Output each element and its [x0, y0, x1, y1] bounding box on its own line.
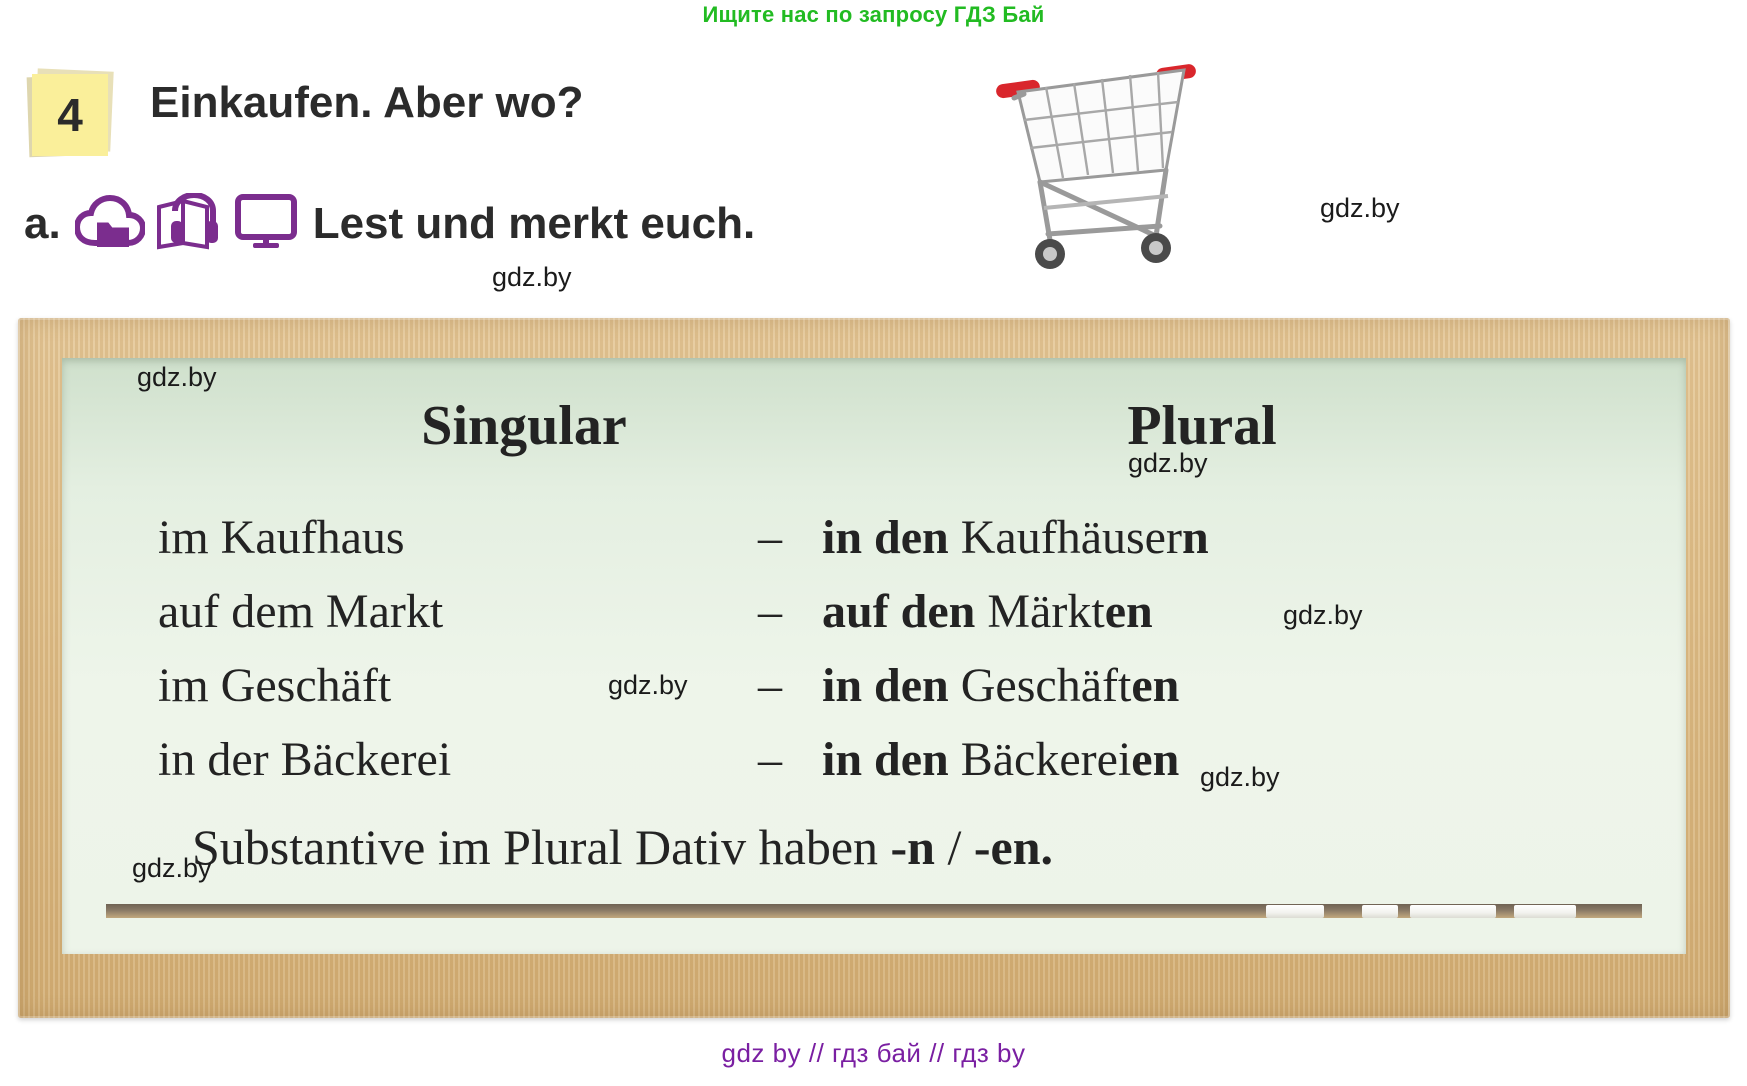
- footer-part-3: гдз by: [952, 1038, 1025, 1068]
- plural-stem: Geschäft: [949, 659, 1132, 712]
- subtask-instruction: Lest und merkt euch.: [313, 199, 756, 249]
- grammar-rule: Substantive im Plural Dativ haben -n / -…: [192, 818, 1053, 876]
- plural-ending: en: [1131, 659, 1179, 712]
- table-row: auf dem Markt – auf den Märkten: [62, 584, 1686, 658]
- plural-article: auf den: [822, 585, 975, 638]
- plural-stem: Kaufhäuser: [949, 511, 1182, 564]
- row-separator: –: [730, 732, 810, 787]
- table-row: im Geschäft – in den Geschäften: [62, 658, 1686, 732]
- rule-slash: /: [935, 819, 974, 875]
- watermark: gdz.by: [1320, 193, 1400, 224]
- word-pair-rows: im Kaufhaus – in den Kaufhäusern auf dem…: [62, 510, 1686, 806]
- plural-form: auf den Märkten: [822, 584, 1602, 639]
- plural-ending: n: [1182, 511, 1209, 564]
- plural-article: in den: [822, 659, 949, 712]
- subtask-row: a. L: [24, 186, 755, 262]
- chalk-piece: [1514, 905, 1576, 918]
- site-footer: gdz by // гдз бай // гдз by: [0, 1038, 1747, 1069]
- monitor-icon: [235, 194, 297, 255]
- plural-form: in den Geschäften: [822, 658, 1602, 713]
- rule-text: Substantive im Plural Dativ haben: [192, 819, 891, 875]
- footer-part-1: gdz by: [722, 1038, 802, 1068]
- chalk-piece: [1410, 905, 1496, 918]
- watermark: gdz.by: [492, 262, 572, 293]
- header-plural: Plural: [922, 394, 1482, 458]
- header-singular: Singular: [244, 394, 804, 458]
- table-row: in der Bäckerei – in den Bäckereien: [62, 732, 1686, 806]
- task-title: Einkaufen. Aber wo?: [150, 78, 584, 128]
- plural-article: in den: [822, 733, 949, 786]
- chalk-piece: [1266, 905, 1324, 918]
- chalk-piece: [1362, 905, 1398, 918]
- shopping-cart-image: [988, 58, 1200, 280]
- plural-form: in den Kaufhäusern: [822, 510, 1602, 565]
- singular-form: in der Bäckerei: [158, 732, 758, 787]
- singular-form: auf dem Markt: [158, 584, 758, 639]
- book-headphones-icon: [155, 193, 225, 256]
- blackboard-surface: Singular Plural im Kaufhaus – in den Kau…: [62, 358, 1686, 954]
- singular-form: im Geschäft: [158, 658, 758, 713]
- task-header: 4 Einkaufen. Aber wo?: [24, 66, 1124, 156]
- footer-part-2: гдз бай: [832, 1038, 921, 1068]
- footer-separator-2: //: [929, 1038, 944, 1068]
- plural-form: in den Bäckereien: [822, 732, 1602, 787]
- plural-stem: Bäckerei: [949, 733, 1132, 786]
- subtask-letter: a.: [24, 199, 61, 249]
- plural-ending: en: [1105, 585, 1153, 638]
- rule-ending-en: -en: [974, 819, 1041, 875]
- plural-stem: Märkt: [975, 585, 1104, 638]
- row-separator: –: [730, 584, 810, 639]
- board-column-headers: Singular Plural: [62, 394, 1686, 464]
- rule-ending-n: -n: [891, 819, 935, 875]
- footer-separator-1: //: [809, 1038, 824, 1068]
- search-query-banner: Ищите нас по запросу ГДЗ Бай: [0, 2, 1747, 28]
- table-row: im Kaufhaus – in den Kaufhäusern: [62, 510, 1686, 584]
- task-number-sticky-note: 4: [28, 74, 114, 154]
- row-separator: –: [730, 510, 810, 565]
- blackboard-frame: Singular Plural im Kaufhaus – in den Kau…: [18, 318, 1730, 1018]
- row-separator: –: [730, 658, 810, 713]
- task-number: 4: [32, 74, 108, 156]
- rule-period: .: [1041, 819, 1054, 875]
- plural-article: in den: [822, 511, 949, 564]
- plural-ending: en: [1131, 733, 1179, 786]
- cloud-folder-icon: [75, 195, 145, 254]
- media-icon-group: [75, 193, 297, 256]
- singular-form: im Kaufhaus: [158, 510, 758, 565]
